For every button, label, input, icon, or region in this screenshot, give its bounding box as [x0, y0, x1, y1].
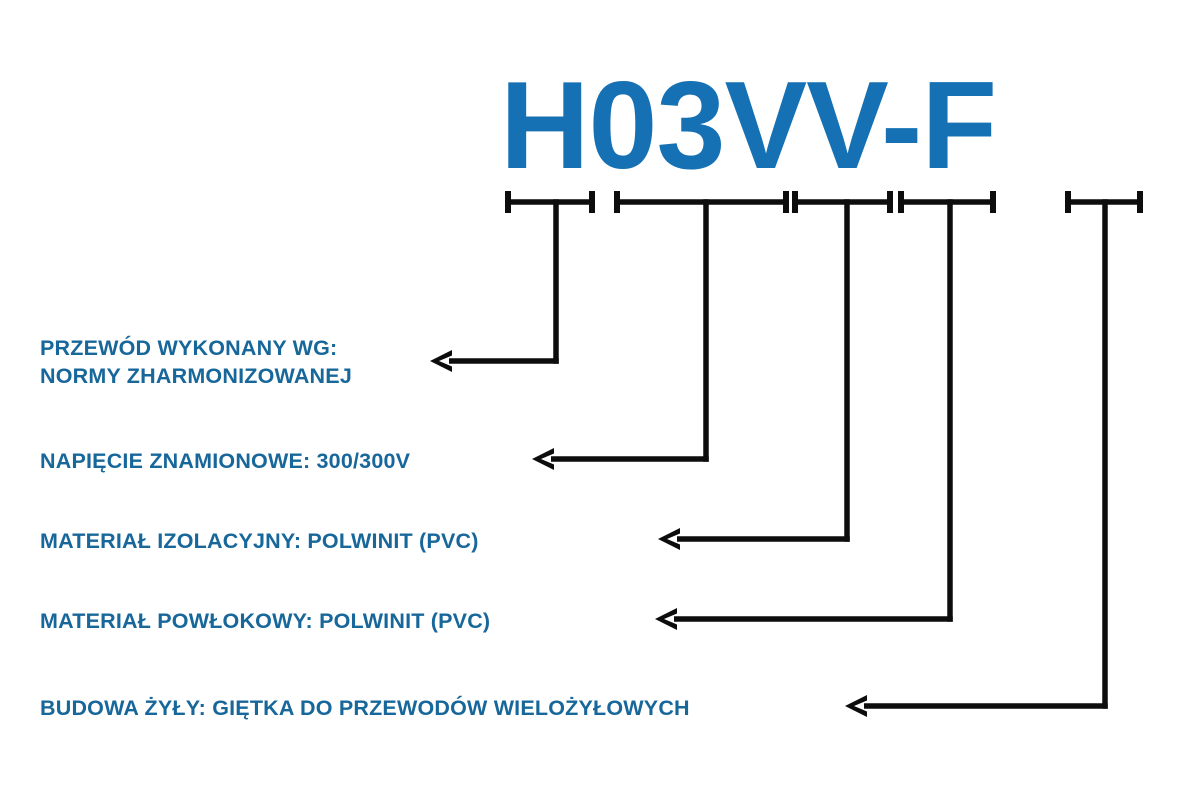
bracket-cap-right-segment-v1: [887, 191, 893, 213]
arrowhead-segment-v1: [658, 528, 680, 550]
bracket-cap-left-segment-v2: [898, 191, 904, 213]
bracket-cap-right-segment-h: [589, 191, 595, 213]
leader-segment-03: [532, 191, 789, 470]
leader-run-segment-h: [449, 358, 559, 364]
labels-group: PRZEWÓD WYKONANY WG:NORMY ZHARMONIZOWANE…: [40, 335, 690, 720]
bracket-cap-right-segment-03: [783, 191, 789, 213]
leader-drop-segment-f: [1102, 199, 1108, 709]
bracket-cap-left-segment-h: [505, 191, 511, 213]
bracket-cap-left-segment-f: [1065, 191, 1071, 213]
arrowhead-segment-v2: [655, 608, 677, 630]
label-line: NAPIĘCIE ZNAMIONOWE: 300/300V: [40, 449, 411, 473]
leader-drop-segment-03: [703, 199, 709, 462]
leader-segment-f: [845, 191, 1143, 717]
leader-run-segment-v1: [677, 536, 850, 542]
bracket-bar-segment-v2: [901, 199, 993, 205]
bracket-cap-left-segment-v1: [792, 191, 798, 213]
leader-run-segment-v2: [674, 616, 953, 622]
label-line: PRZEWÓD WYKONANY WG:: [40, 335, 337, 360]
bracket-bar-segment-h: [508, 199, 592, 205]
label-line: NORMY ZHARMONIZOWANEJ: [40, 364, 352, 388]
arrowhead-segment-h: [430, 350, 452, 372]
cable-designation-diagram: H03VV-F PRZEWÓD WYKONANY WG:NORMY ZHARMO…: [0, 0, 1200, 800]
leader-lines-group: [430, 191, 1143, 717]
leader-segment-v1: [658, 191, 893, 550]
label-segment-03: NAPIĘCIE ZNAMIONOWE: 300/300V: [40, 449, 411, 473]
bracket-bar-segment-v1: [795, 199, 890, 205]
label-segment-v1: MATERIAŁ IZOLACYJNY: POLWINIT (PVC): [40, 529, 479, 553]
label-line: MATERIAŁ POWŁOKOWY: POLWINIT (PVC): [40, 609, 490, 633]
leader-drop-segment-v1: [844, 199, 850, 542]
leader-run-segment-03: [551, 456, 709, 462]
label-line: MATERIAŁ IZOLACYJNY: POLWINIT (PVC): [40, 529, 479, 553]
leader-drop-segment-h: [553, 199, 559, 364]
label-segment-h: PRZEWÓD WYKONANY WG:NORMY ZHARMONIZOWANE…: [40, 335, 352, 388]
leader-segment-h: [430, 191, 595, 372]
cable-code-title: H03VV-F: [500, 57, 996, 195]
leader-run-segment-f: [864, 703, 1108, 709]
bracket-bar-segment-03: [617, 199, 786, 205]
bracket-cap-right-segment-v2: [990, 191, 996, 213]
label-segment-f: BUDOWA ŻYŁY: GIĘTKA DO PRZEWODÓW WIELOŻY…: [40, 695, 690, 720]
bracket-cap-left-segment-03: [614, 191, 620, 213]
diagram-canvas: H03VV-F PRZEWÓD WYKONANY WG:NORMY ZHARMO…: [0, 0, 1200, 800]
bracket-cap-right-segment-f: [1137, 191, 1143, 213]
leader-drop-segment-v2: [947, 199, 953, 622]
arrowhead-segment-f: [845, 695, 867, 717]
label-segment-v2: MATERIAŁ POWŁOKOWY: POLWINIT (PVC): [40, 609, 490, 633]
label-line: BUDOWA ŻYŁY: GIĘTKA DO PRZEWODÓW WIELOŻY…: [40, 695, 690, 720]
arrowhead-segment-03: [532, 448, 554, 470]
